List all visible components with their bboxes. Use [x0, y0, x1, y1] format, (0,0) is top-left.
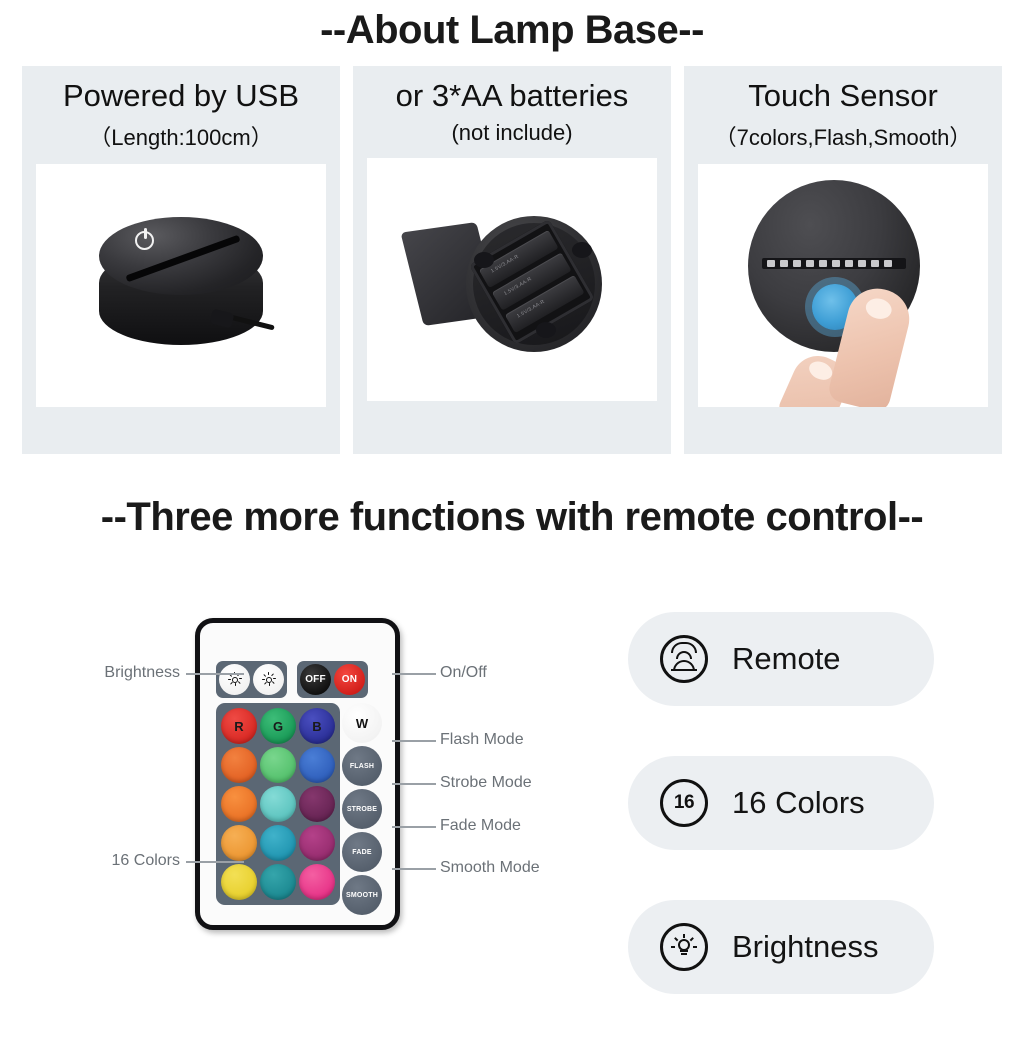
battery-slot-label: 1.5V/3.AA-R [490, 254, 520, 275]
battery-compartment-photo: 1.5V/3.AA-R 1.5V/3.AA-R 1.5V/3.AA-R [367, 158, 657, 401]
color-button[interactable] [260, 825, 296, 861]
brightness-up-button[interactable] [253, 664, 284, 695]
color-button[interactable] [260, 786, 296, 822]
fade-button[interactable]: FADE [342, 832, 382, 872]
feature-brightness[interactable]: Brightness [628, 900, 934, 994]
page-title-lamp-base: --About Lamp Base-- [0, 8, 1024, 53]
led-dot [780, 260, 788, 267]
brightness-bulb-icon [660, 923, 708, 971]
off-button[interactable]: OFF [300, 664, 331, 695]
color-button[interactable] [299, 747, 335, 783]
page-title-remote-functions: --Three more functions with remote contr… [0, 495, 1024, 540]
panel-aa-batteries: or 3*AA batteries (not include) 1.5V/3.A… [353, 66, 671, 454]
callout-leader-line [392, 673, 436, 675]
callout-fade-mode: Fade Mode [440, 817, 521, 835]
smooth-button[interactable]: SMOOTH [342, 875, 382, 915]
lamp-base-illustration [93, 215, 269, 365]
led-dot [819, 260, 827, 267]
remote-control-diagram: OFF ON R G B [40, 600, 620, 960]
callout-on-off: On/Off [440, 664, 487, 682]
feature-label: 16 Colors [732, 785, 865, 821]
panel-title: or 3*AA batteries [396, 78, 629, 114]
color-button[interactable] [221, 786, 257, 822]
callout-leader-line [392, 740, 436, 742]
base-underside: 1.5V/3.AA-R 1.5V/3.AA-R 1.5V/3.AA-R [466, 216, 602, 352]
panel-subtitle: （7colors,Flash,Smooth） [715, 120, 972, 152]
color-button-grid: R G B [216, 703, 340, 905]
brightness-down-button[interactable] [219, 664, 250, 695]
touch-sensor-photo [698, 164, 988, 407]
power-symbol-icon [135, 231, 154, 250]
led-dot [806, 260, 814, 267]
color-button-blue[interactable]: B [299, 708, 335, 744]
panel-powered-by-usb: Powered by USB （Length:100cm） [22, 66, 340, 454]
panel-title: Touch Sensor [748, 78, 938, 114]
sixteen-circle-icon: 16 [660, 779, 708, 827]
rubber-foot [474, 252, 494, 268]
battery-slot-label: 1.5V/3.AA-R [516, 299, 546, 320]
infographic-root: --About Lamp Base-- Powered by USB （Leng… [0, 0, 1024, 1024]
led-dot [793, 260, 801, 267]
rubber-foot [572, 242, 592, 258]
mode-button-column: W FLASH STROBE FADE SMOOTH [340, 701, 384, 917]
feature-list: Remote 16 16 Colors Brightness [628, 612, 934, 1044]
led-dot [884, 260, 892, 267]
sun-large-icon [262, 673, 275, 686]
led-dot [858, 260, 866, 267]
led-dot [832, 260, 840, 267]
callout-smooth-mode: Smooth Mode [440, 859, 540, 877]
color-button[interactable] [221, 747, 257, 783]
strobe-button[interactable]: STROBE [342, 789, 382, 829]
callout-leader-line [392, 783, 436, 785]
color-button[interactable] [221, 864, 257, 900]
on-button[interactable]: ON [334, 664, 365, 695]
color-button[interactable] [299, 786, 335, 822]
panel-subtitle: (not include) [451, 120, 572, 146]
led-strip [762, 258, 906, 269]
sixteen-badge-text: 16 [674, 792, 694, 814]
feature-remote[interactable]: Remote [628, 612, 934, 706]
lamp-base-usb-photo [36, 164, 326, 407]
color-button[interactable] [260, 747, 296, 783]
callout-leader-line [392, 826, 436, 828]
battery-base-illustration: 1.5V/3.AA-R 1.5V/3.AA-R 1.5V/3.AA-R [412, 204, 612, 364]
led-dot [871, 260, 879, 267]
callout-brightness: Brightness [62, 664, 180, 682]
panel-touch-sensor: Touch Sensor （7colors,Flash,Smooth） [684, 66, 1002, 454]
flash-button[interactable]: FLASH [342, 746, 382, 786]
battery-slot-label: 1.5V/3.AA-R [503, 276, 533, 297]
callout-strobe-mode: Strobe Mode [440, 774, 532, 792]
power-button-group: OFF ON [297, 661, 368, 698]
color-button-green[interactable]: G [260, 708, 296, 744]
color-button-red[interactable]: R [221, 708, 257, 744]
callout-flash-mode: Flash Mode [440, 731, 524, 749]
remote-signal-icon [660, 635, 708, 683]
led-dot [845, 260, 853, 267]
color-button[interactable] [221, 825, 257, 861]
lamp-base-panel-group: Powered by USB （Length:100cm） or 3*AA ba… [22, 66, 1002, 454]
feature-label: Remote [732, 641, 841, 677]
color-button[interactable] [299, 864, 335, 900]
brightness-button-group [216, 661, 287, 698]
color-button[interactable] [260, 864, 296, 900]
touch-base-illustration [748, 180, 938, 370]
remote-top-row: OFF ON [216, 661, 368, 698]
callout-leader-line [186, 861, 244, 863]
callout-leader-line [392, 868, 436, 870]
rubber-foot [536, 322, 556, 338]
panel-title: Powered by USB [63, 78, 299, 114]
feature-label: Brightness [732, 929, 878, 965]
feature-16-colors[interactable]: 16 16 Colors [628, 756, 934, 850]
callout-16-colors: 16 Colors [62, 852, 180, 870]
white-button[interactable]: W [342, 703, 382, 743]
callout-leader-line [186, 673, 244, 675]
remote-control-body: OFF ON R G B [195, 618, 400, 930]
led-dot [767, 260, 775, 267]
color-button[interactable] [299, 825, 335, 861]
panel-subtitle: （Length:100cm） [89, 120, 272, 152]
